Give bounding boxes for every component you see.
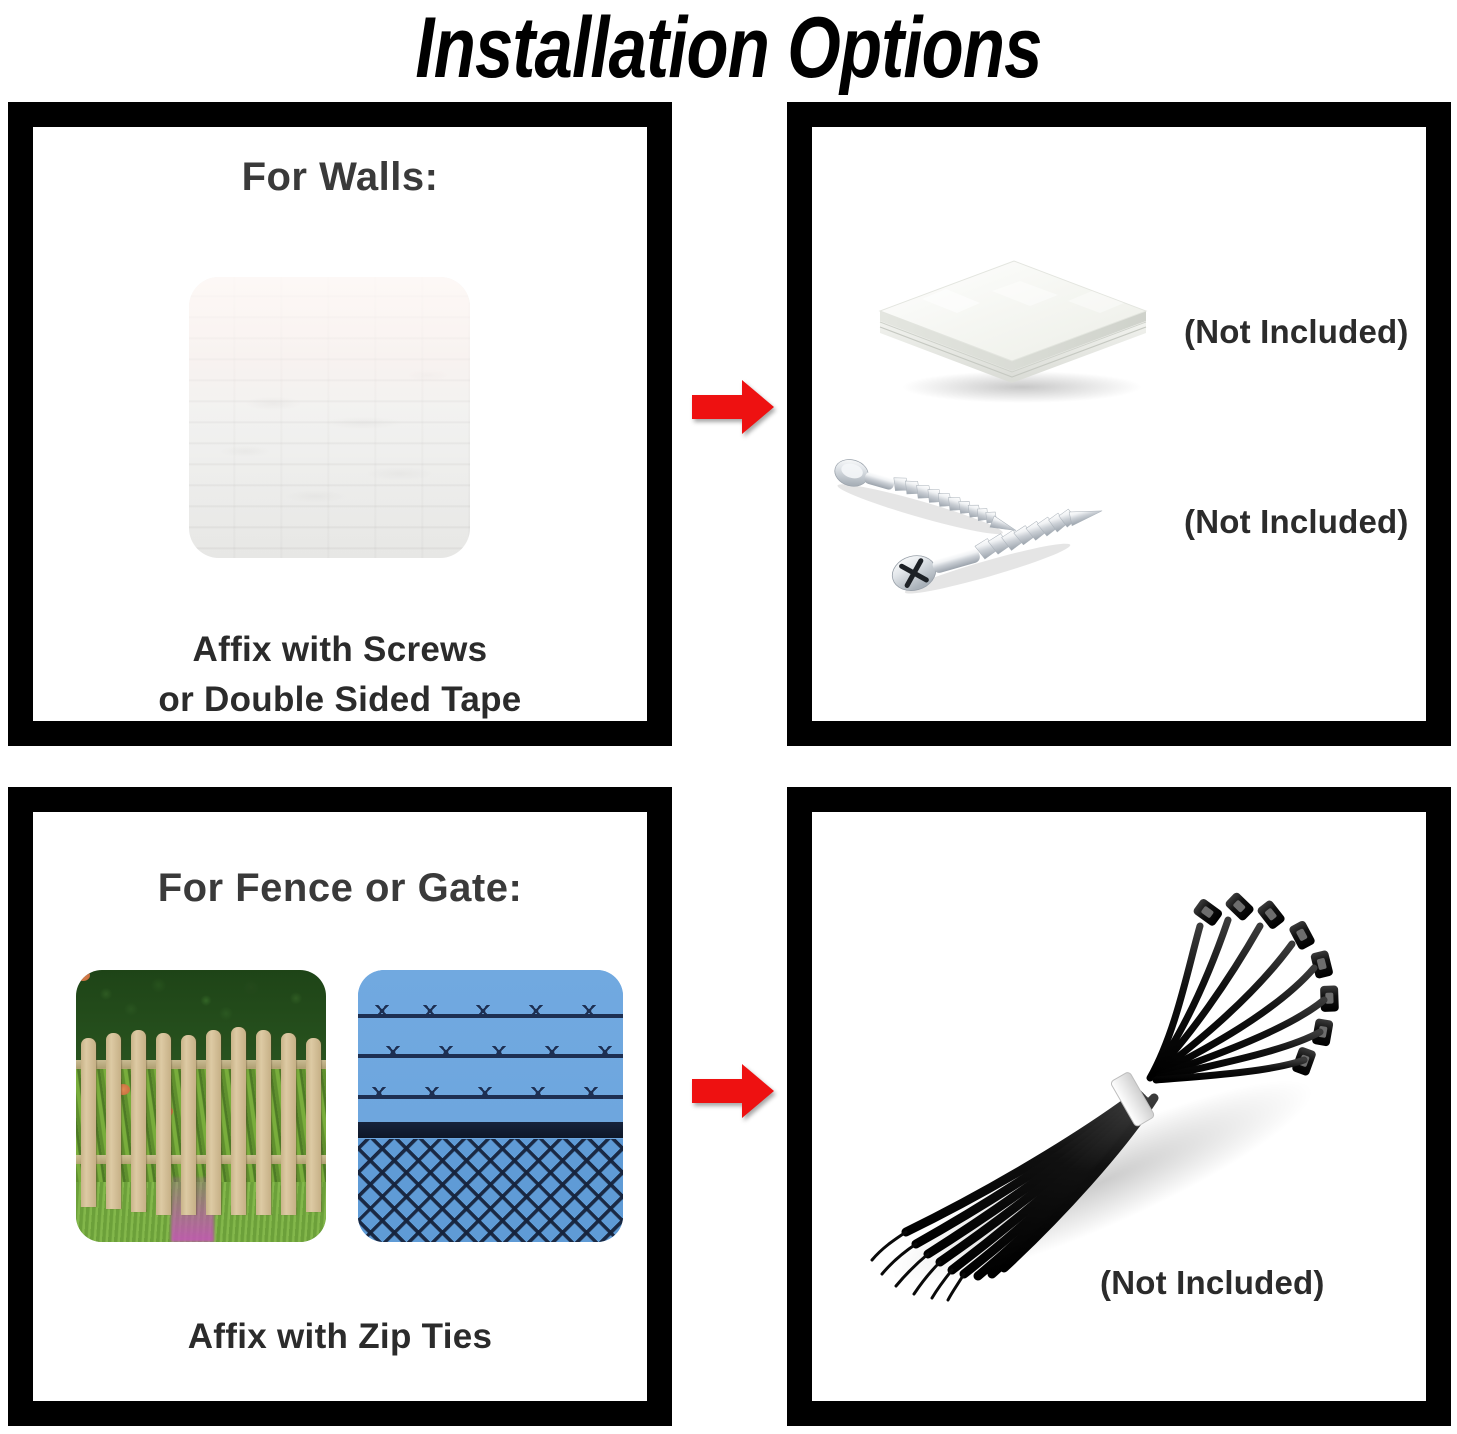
panel-for-fence-or-gate: For Fence or Gate: [8,787,672,1426]
panel-fence-hardware: (Not Included) [787,787,1451,1426]
screws-not-included-label: (Not Included) [1184,503,1409,541]
ziptie-not-included-label: (Not Included) [1100,1264,1325,1302]
barb [583,1087,599,1099]
panel-for-walls-heading: For Walls: [33,155,647,200]
caption-line-2: or Double Sided Tape [33,675,647,721]
barb [491,1046,507,1058]
whitewashed-brick-wall-image [189,277,470,558]
fence-picket [231,1027,246,1215]
arrow-walls-to-hardware-icon [692,378,774,436]
screw-upper [830,456,1022,544]
double-sided-tape-stack-image [862,237,1162,407]
panel-for-walls: For Walls: Affix with Screws or Double S… [8,102,672,746]
black-zip-tie-bundle-image [832,882,1392,1302]
barb [581,1005,597,1017]
tape-not-included-label: (Not Included) [1184,313,1409,351]
barb [597,1046,613,1058]
fence-picket [131,1030,146,1212]
barb [422,1005,438,1017]
fence-picket [281,1033,296,1215]
whitewash-overlay [189,277,470,558]
wooden-picket-fence-image [76,970,326,1242]
chain-link-barbed-wire-fence-image [358,970,623,1242]
fence-picket [306,1038,321,1212]
panel-for-fence-heading: For Fence or Gate: [33,866,647,911]
fence-picket [206,1030,221,1215]
barb [371,1087,387,1099]
panel-for-walls-caption: Affix with Screws or Double Sided Tape [33,625,647,721]
caption-line-1: Affix with Screws [33,625,647,675]
fence-top-rail [358,1122,623,1138]
panel-for-fence-caption: Affix with Zip Ties [33,1312,647,1362]
fence-picket [81,1038,96,1207]
barb [530,1087,546,1099]
barb [424,1087,440,1099]
flower [76,970,90,981]
barb [528,1005,544,1017]
fence-picket [106,1033,121,1210]
tape-stack-svg [862,237,1162,407]
chain-link-mesh [358,1139,623,1242]
barb [438,1046,454,1058]
barb [385,1046,401,1058]
page-title: Installation Options [146,0,1312,96]
caption-line-1: Affix with Zip Ties [33,1312,647,1362]
fence-picket [181,1035,196,1215]
barb [475,1005,491,1017]
panel-wall-hardware: (Not Included) [787,102,1451,746]
barb [544,1046,560,1058]
arrow-fence-to-hardware-icon [692,1062,774,1120]
barb [374,1005,390,1017]
zip-tie-bundle-svg [832,882,1392,1302]
wood-screws-svg [830,437,1190,607]
fence-picket [256,1030,271,1215]
fence-picket [156,1033,171,1215]
barb [477,1087,493,1099]
wood-screws-image [830,437,1190,607]
